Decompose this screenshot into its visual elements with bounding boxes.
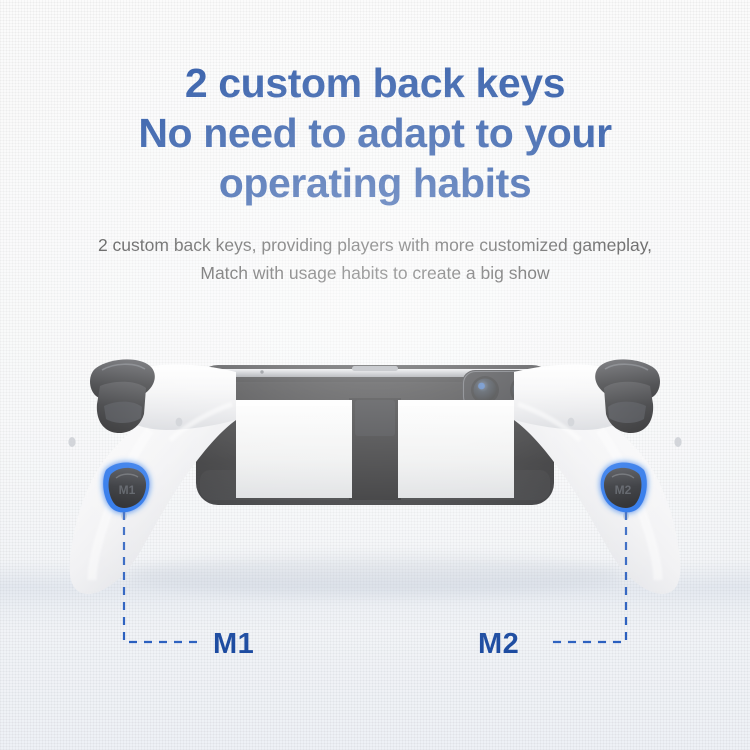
callout-label-m2: M2	[478, 630, 519, 659]
center-bridge-clamp	[236, 398, 514, 500]
marketing-image-canvas: 2 custom back keys No need to adapt to y…	[0, 0, 750, 750]
product-drop-shadow	[125, 555, 625, 595]
left-screw-hole	[176, 418, 183, 427]
svg-text:M2: M2	[615, 483, 632, 497]
product-illustration: M1 M2	[0, 0, 750, 750]
right-screw-hole	[568, 418, 575, 427]
callout-label-m1: M1	[213, 630, 254, 659]
svg-text:M1: M1	[119, 483, 136, 497]
